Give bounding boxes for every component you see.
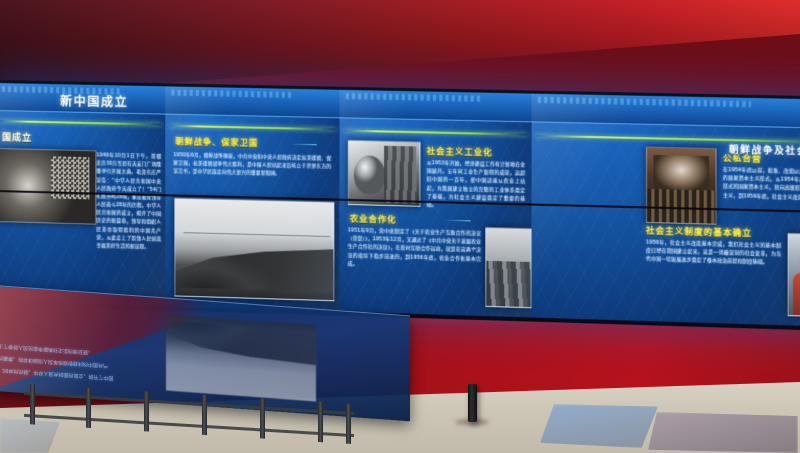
photo-machinery-icon (384, 145, 417, 203)
photo-machine-icon (354, 155, 385, 195)
photo-agriculture-meeting[interactable] (485, 227, 531, 308)
photo-worker-portrait[interactable] (788, 233, 800, 318)
photo-founding-ceremony[interactable] (0, 148, 96, 225)
photo-public-private[interactable] (646, 146, 717, 224)
panel-4-section-1-body: 在1954年底以前，批准、改组以加工订货为主的国家资本主义形式，从1954年起，… (723, 167, 800, 204)
photo-industrialization[interactable] (348, 140, 421, 207)
panel-4-separator (536, 135, 800, 143)
panel-2-separator (169, 125, 335, 130)
panel-4-section-2-title: 社会主义制度的基本确立 (646, 225, 752, 239)
header-deco-pattern-3-icon (346, 93, 480, 102)
table-reflected-photo (166, 315, 316, 402)
photo-crowd-icon (486, 261, 530, 308)
panel-3-separator (344, 130, 528, 136)
header-deco-pattern-4-icon (538, 97, 751, 107)
panel-1-separator (0, 120, 161, 125)
table-leg-7 (346, 404, 351, 444)
floor-reflection-center (540, 404, 658, 448)
panel-2-body-text: 1950年6月，朝鲜战争爆发，中共中央和中央人民政府决定抗美援朝、保家卫国，抗美… (173, 152, 331, 181)
table-leg-5 (260, 398, 265, 438)
panel-2-title-tick-icon (290, 144, 317, 146)
photo-terrain-icon (175, 243, 333, 292)
table-leg-3 (144, 391, 149, 431)
photo-wire-icon (183, 232, 330, 237)
table-leg-4 (202, 395, 207, 435)
video-wall-header-left: 新中国成立 (60, 92, 128, 110)
panel-3-section-2-body: 1951年9月，党中央制定了《关于农业生产互助合作的决议（草案）》，1953年1… (348, 227, 481, 272)
table-leg-2 (86, 388, 91, 428)
panel-3-section-2-title: 农业合作化 (350, 213, 397, 225)
header-deco-pattern-2-icon (171, 90, 293, 99)
panel-1-body-text: 1949年10月1日下午，首都北京30万军民在天安门广场隆重举行开国大典。毛泽东… (96, 152, 161, 252)
exhibition-hall-scene: 国成立 1949年10月1日下午，首都北京30万军民在天安门广场隆重举行开国大典… (0, 0, 800, 453)
floor-reflection-right (648, 412, 798, 453)
photo-korean-war-bridge[interactable] (174, 198, 334, 302)
table-leg-1 (30, 384, 35, 424)
panel-4-section-2-body: 1956年，社会主义改造基本完成，我们社会主义的基本制度已经在我国建立起来，这是… (646, 239, 781, 268)
photo-banner-icon (654, 155, 709, 192)
table-leg-6 (318, 402, 323, 442)
panel-3-section-1-title: 社会主义工业化 (427, 146, 493, 159)
panel-3-title-tick-icon (443, 220, 470, 222)
floor-bollard-speaker[interactable] (468, 384, 477, 422)
panel-1-header-fragment: 国成立 (2, 130, 32, 144)
panel-2-section-title: 朝鲜战争、保家卫国 (175, 136, 258, 149)
reflected-terrain-icon (166, 321, 316, 367)
photo-body-icon (793, 273, 800, 316)
video-wall-header-right: 朝鲜战争及社会主义 (729, 142, 800, 158)
